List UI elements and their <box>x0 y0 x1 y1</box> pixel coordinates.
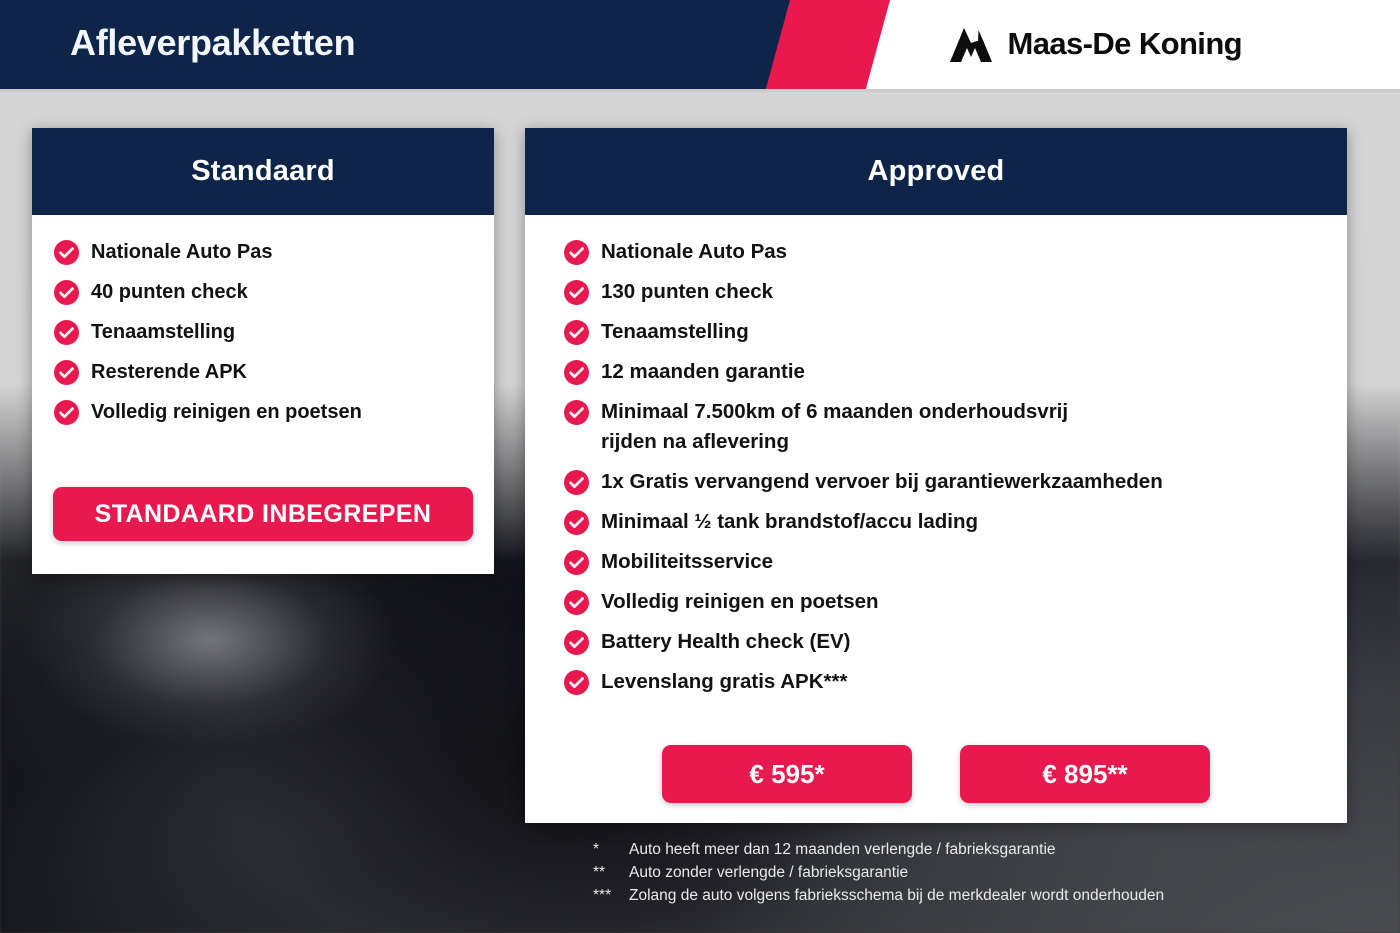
list-item: Tenaamstelling <box>564 317 1347 347</box>
check-circle-icon <box>564 360 589 385</box>
feature-label: Levenslang gratis APK*** <box>601 667 847 697</box>
list-item: 130 punten check <box>564 277 1347 307</box>
list-item: Tenaamstelling <box>54 317 494 347</box>
feature-label: Nationale Auto Pas <box>601 237 787 267</box>
list-item: Mobiliteitsservice <box>564 547 1347 577</box>
footnote-item: *** Zolang de auto volgens fabrieksschem… <box>593 884 1353 907</box>
footnote-text: Auto heeft meer dan 12 maanden verlengde… <box>629 838 1056 861</box>
list-item: Nationale Auto Pas <box>564 237 1347 267</box>
feature-label: 12 maanden garantie <box>601 357 805 387</box>
feature-label: Mobiliteitsservice <box>601 547 773 577</box>
check-circle-icon <box>564 400 589 425</box>
price-button-row: € 595* € 895** <box>525 745 1347 803</box>
check-circle-icon <box>564 670 589 695</box>
feature-label: 130 punten check <box>601 277 773 307</box>
feature-label: 40 punten check <box>91 277 248 307</box>
list-item: 1x Gratis vervangend vervoer bij garanti… <box>564 467 1347 497</box>
feature-label: Tenaamstelling <box>91 317 235 347</box>
list-item: 12 maanden garantie <box>564 357 1347 387</box>
maas-de-koning-m-mark-icon <box>948 24 994 64</box>
list-item: Battery Health check (EV) <box>564 627 1347 657</box>
card-body-approved: Nationale Auto Pas 130 punten check Tena… <box>525 215 1347 697</box>
brand-name: Maas-De Koning <box>1008 26 1242 62</box>
check-circle-icon <box>564 470 589 495</box>
check-circle-icon <box>54 360 79 385</box>
list-item: Minimaal 7.500km of 6 maanden onderhouds… <box>564 397 1347 457</box>
feature-label: Minimaal ½ tank brandstof/accu lading <box>601 507 978 537</box>
check-circle-icon <box>54 240 79 265</box>
card-body-standaard: Nationale Auto Pas 40 punten check Tenaa… <box>32 215 494 427</box>
list-item: Nationale Auto Pas <box>54 237 494 267</box>
card-title-approved: Approved <box>868 155 1005 188</box>
feature-label: Tenaamstelling <box>601 317 749 347</box>
list-item: 40 punten check <box>54 277 494 307</box>
feature-list-approved: Nationale Auto Pas 130 punten check Tena… <box>525 237 1347 697</box>
check-circle-icon <box>54 400 79 425</box>
list-item: Levenslang gratis APK*** <box>564 667 1347 697</box>
check-circle-icon <box>564 630 589 655</box>
feature-label: Battery Health check (EV) <box>601 627 851 657</box>
card-title-standaard: Standaard <box>191 155 335 188</box>
feature-list-standaard: Nationale Auto Pas 40 punten check Tenaa… <box>32 237 494 427</box>
check-circle-icon <box>564 320 589 345</box>
check-circle-icon <box>564 280 589 305</box>
feature-label-line2: rijden na aflevering <box>601 427 1068 457</box>
check-circle-icon <box>564 240 589 265</box>
footnote-text: Auto zonder verlengde / fabrieksgarantie <box>629 861 908 884</box>
footnote-marker: * <box>593 838 629 861</box>
feature-label-line1: Minimaal 7.500km of 6 maanden onderhouds… <box>601 397 1068 427</box>
list-item: Volledig reinigen en poetsen <box>564 587 1347 617</box>
page-header: Afleverpakketten Maas-De Koning <box>0 0 1400 92</box>
card-header-standaard: Standaard <box>32 128 494 215</box>
check-circle-icon <box>564 590 589 615</box>
check-circle-icon <box>564 550 589 575</box>
footnote-item: * Auto heeft meer dan 12 maanden verleng… <box>593 838 1353 861</box>
check-circle-icon <box>54 320 79 345</box>
standaard-included-button[interactable]: STANDAARD INBEGREPEN <box>53 487 473 541</box>
footnotes: * Auto heeft meer dan 12 maanden verleng… <box>593 838 1353 907</box>
footnote-marker: ** <box>593 861 629 884</box>
package-card-approved: Approved Nationale Auto Pas 130 punten c… <box>525 128 1347 823</box>
feature-label: Volledig reinigen en poetsen <box>91 397 362 427</box>
feature-label: Nationale Auto Pas <box>91 237 273 267</box>
footnote-text: Zolang de auto volgens fabrieksschema bi… <box>629 884 1164 907</box>
feature-label: Resterende APK <box>91 357 247 387</box>
header-bottom-divider <box>0 89 1400 92</box>
feature-label-multiline: Minimaal 7.500km of 6 maanden onderhouds… <box>601 397 1068 457</box>
price-button-895[interactable]: € 895** <box>960 745 1210 803</box>
list-item: Minimaal ½ tank brandstof/accu lading <box>564 507 1347 537</box>
page-title: Afleverpakketten <box>70 22 355 64</box>
price-button-595[interactable]: € 595* <box>662 745 912 803</box>
brand-logo: Maas-De Koning <box>948 24 1242 64</box>
footnote-marker: *** <box>593 884 629 907</box>
footnote-item: ** Auto zonder verlengde / fabrieksgaran… <box>593 861 1353 884</box>
feature-label: Volledig reinigen en poetsen <box>601 587 879 617</box>
feature-label: 1x Gratis vervangend vervoer bij garanti… <box>601 467 1163 497</box>
check-circle-icon <box>564 510 589 535</box>
list-item: Volledig reinigen en poetsen <box>54 397 494 427</box>
list-item: Resterende APK <box>54 357 494 387</box>
check-circle-icon <box>54 280 79 305</box>
card-header-approved: Approved <box>525 128 1347 215</box>
